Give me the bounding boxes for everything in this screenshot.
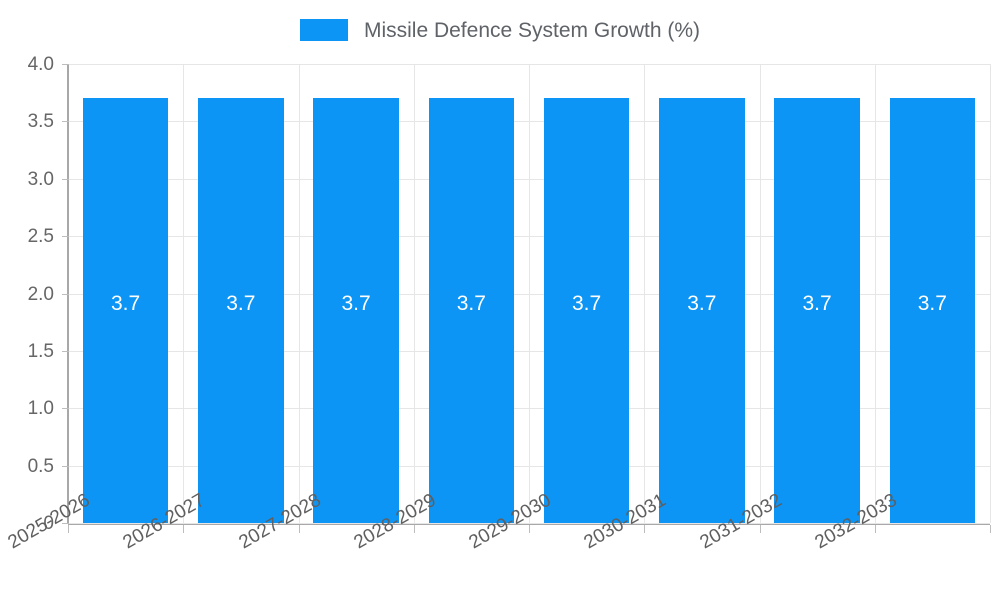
x-axis-tick-mark xyxy=(529,525,530,533)
x-axis-tick-mark xyxy=(875,525,876,533)
y-axis-tick-label: 2.0 xyxy=(8,285,54,304)
bar[interactable]: 3.7 xyxy=(83,98,168,523)
bar-value-label: 3.7 xyxy=(774,293,859,314)
y-axis-tick-label: 4.0 xyxy=(8,55,54,74)
y-axis-tick-label: 0.5 xyxy=(8,457,54,476)
gridline-vertical xyxy=(183,64,184,523)
y-axis-tick-mark xyxy=(62,64,69,65)
legend-swatch-missile-defence-system-growth[interactable] xyxy=(300,19,348,41)
x-axis-tick-mark xyxy=(990,525,991,533)
bar[interactable]: 3.7 xyxy=(313,98,398,523)
bar[interactable]: 3.7 xyxy=(659,98,744,523)
bar[interactable]: 3.7 xyxy=(429,98,514,523)
bar[interactable]: 3.7 xyxy=(198,98,283,523)
bar[interactable]: 3.7 xyxy=(890,98,975,523)
y-axis-tick-mark xyxy=(62,121,69,122)
y-axis-tick-mark xyxy=(62,408,69,409)
gridline-vertical xyxy=(990,64,991,523)
x-axis-tick-mark xyxy=(760,525,761,533)
y-axis-tick-label: 1.0 xyxy=(8,399,54,418)
bar-chart: Missile Defence System Growth (%) 3.73.7… xyxy=(0,0,1000,600)
gridline-vertical xyxy=(414,64,415,523)
y-axis-tick-mark xyxy=(62,294,69,295)
plot-area: 3.73.73.73.73.73.73.73.7 xyxy=(68,64,990,523)
legend-label-missile-defence-system-growth: Missile Defence System Growth (%) xyxy=(364,20,700,41)
bar-value-label: 3.7 xyxy=(313,293,398,314)
y-axis-tick-mark xyxy=(62,351,69,352)
bar-value-label: 3.7 xyxy=(659,293,744,314)
x-axis-tick-mark xyxy=(299,525,300,533)
bar-value-label: 3.7 xyxy=(544,293,629,314)
bar[interactable]: 3.7 xyxy=(544,98,629,523)
y-axis-tick-label: 3.0 xyxy=(8,170,54,189)
bar-value-label: 3.7 xyxy=(83,293,168,314)
bar-value-label: 3.7 xyxy=(890,293,975,314)
y-axis-tick-label: 3.5 xyxy=(8,112,54,131)
gridline-vertical xyxy=(299,64,300,523)
gridline-vertical xyxy=(760,64,761,523)
y-axis-tick-mark xyxy=(62,179,69,180)
x-axis-tick-mark xyxy=(644,525,645,533)
y-axis-tick-mark xyxy=(62,466,69,467)
bar[interactable]: 3.7 xyxy=(774,98,859,523)
gridline-vertical xyxy=(644,64,645,523)
gridline-vertical xyxy=(529,64,530,523)
chart-legend: Missile Defence System Growth (%) xyxy=(0,12,1000,48)
y-axis-tick-label: 2.5 xyxy=(8,227,54,246)
gridline-vertical xyxy=(875,64,876,523)
x-axis-tick-mark xyxy=(414,525,415,533)
bar-value-label: 3.7 xyxy=(429,293,514,314)
bar-value-label: 3.7 xyxy=(198,293,283,314)
y-axis-tick-label: 1.5 xyxy=(8,342,54,361)
x-axis-tick-mark xyxy=(183,525,184,533)
y-axis-tick-mark xyxy=(62,236,69,237)
x-axis-tick-mark xyxy=(68,525,69,533)
